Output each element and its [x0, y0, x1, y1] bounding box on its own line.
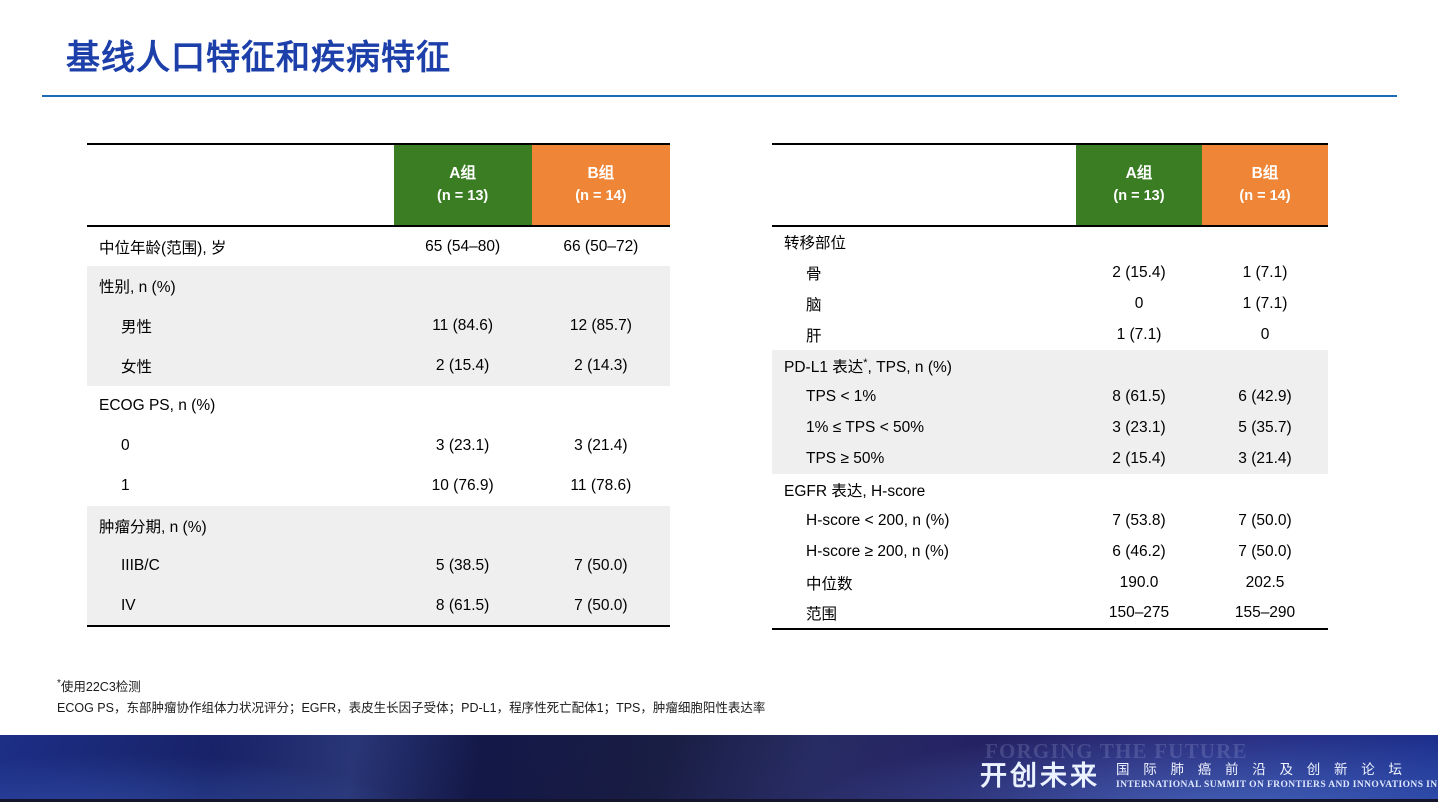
table-row: 女性2 (15.4)2 (14.3) [87, 346, 670, 386]
value-group-b: 3 (21.4) [1202, 443, 1328, 474]
header-blank-cell [772, 144, 1076, 226]
value-group-b: 7 (50.0) [532, 546, 670, 586]
value-group-b: 1 (7.1) [1202, 288, 1328, 319]
value-group-a: 3 (23.1) [1076, 412, 1202, 443]
table-row: 中位数190.0202.5 [772, 567, 1328, 598]
value-group-b [532, 386, 670, 426]
value-group-b: 5 (35.7) [1202, 412, 1328, 443]
header-group-a: A组 (n = 13) [1076, 144, 1202, 226]
row-label: 男性 [87, 306, 394, 346]
row-label: 0 [87, 426, 394, 466]
table-row: 110 (76.9)11 (78.6) [87, 466, 670, 506]
value-group-b: 3 (21.4) [532, 426, 670, 466]
table-header-row: A组 (n = 13) B组 (n = 14) [87, 144, 670, 226]
table-row: 1% ≤ TPS < 50%3 (23.1)5 (35.7) [772, 412, 1328, 443]
baseline-characteristics-table-right: A组 (n = 13) B组 (n = 14) 转移部位骨2 (15.4)1 (… [772, 143, 1328, 630]
value-group-b: 202.5 [1202, 567, 1328, 598]
value-group-a: 6 (46.2) [1076, 536, 1202, 567]
forum-logo-subtitles: 国 际 肺 癌 前 沿 及 创 新 论 坛 INTERNATIONAL SUMM… [1116, 747, 1438, 790]
table-row: H-score < 200, n (%)7 (53.8)7 (50.0) [772, 505, 1328, 536]
header-group-b-count: (n = 14) [532, 186, 670, 207]
table-row: 03 (23.1)3 (21.4) [87, 426, 670, 466]
header-group-b: B组 (n = 14) [1202, 144, 1328, 226]
table-row: 范围150–275155–290 [772, 598, 1328, 629]
footnotes: *使用22C3检测 ECOG PS，东部肿瘤协作组体力状况评分；EGFR，表皮生… [57, 676, 765, 718]
header-group-a-count: (n = 13) [1076, 186, 1202, 207]
value-group-b: 7 (50.0) [1202, 505, 1328, 536]
row-label: TPS < 1% [772, 381, 1076, 412]
header-group-b-count: (n = 14) [1202, 186, 1328, 207]
table-row: ECOG PS, n (%) [87, 386, 670, 426]
row-label: IIIB/C [87, 546, 394, 586]
value-group-b: 6 (42.9) [1202, 381, 1328, 412]
row-label: 转移部位 [772, 226, 1076, 257]
value-group-a: 150–275 [1076, 598, 1202, 629]
value-group-a: 8 (61.5) [394, 586, 532, 626]
header-group-a-label: A组 [449, 165, 476, 182]
table-row: PD-L1 表达*, TPS, n (%) [772, 350, 1328, 381]
header-group-a-label: A组 [1126, 165, 1153, 182]
value-group-a: 190.0 [1076, 567, 1202, 598]
table-row: H-score ≥ 200, n (%)6 (46.2)7 (50.0) [772, 536, 1328, 567]
value-group-b: 11 (78.6) [532, 466, 670, 506]
footnote-source: *使用22C3检测 [57, 676, 765, 698]
table-header-row: A组 (n = 13) B组 (n = 14) [772, 144, 1328, 226]
row-label: 肝 [772, 319, 1076, 350]
table-row: 肿瘤分期, n (%) [87, 506, 670, 546]
value-group-a: 8 (61.5) [1076, 381, 1202, 412]
value-group-a: 11 (84.6) [394, 306, 532, 346]
row-label: 范围 [772, 598, 1076, 629]
value-group-a: 2 (15.4) [394, 346, 532, 386]
row-label: 女性 [87, 346, 394, 386]
value-group-b [532, 506, 670, 546]
row-label: 脑 [772, 288, 1076, 319]
value-group-b: 12 (85.7) [532, 306, 670, 346]
value-group-b: 66 (50–72) [532, 226, 670, 266]
row-label: TPS ≥ 50% [772, 443, 1076, 474]
stat-table-right: A组 (n = 13) B组 (n = 14) 转移部位骨2 (15.4)1 (… [772, 143, 1328, 630]
value-group-a [1076, 226, 1202, 257]
row-label: 肿瘤分期, n (%) [87, 506, 394, 546]
value-group-b: 0 [1202, 319, 1328, 350]
row-label: H-score ≥ 200, n (%) [772, 536, 1076, 567]
value-group-b [1202, 350, 1328, 381]
forum-subtitle-chinese: 国 际 肺 癌 前 沿 及 创 新 论 坛 [1116, 758, 1438, 778]
value-group-a: 1 (7.1) [1076, 319, 1202, 350]
header-group-a: A组 (n = 13) [394, 144, 532, 226]
baseline-characteristics-table-left: A组 (n = 13) B组 (n = 14) 中位年龄(范围), 岁65 (5… [87, 143, 670, 627]
header-group-b-label: B组 [1252, 165, 1279, 182]
value-group-a [394, 266, 532, 306]
value-group-a [1076, 350, 1202, 381]
footnote-abbreviations: ECOG PS，东部肿瘤协作组体力状况评分；EGFR，表皮生长因子受体；PD-L… [57, 698, 765, 719]
value-group-a: 0 [1076, 288, 1202, 319]
value-group-b: 2 (14.3) [532, 346, 670, 386]
table-row: 男性11 (84.6)12 (85.7) [87, 306, 670, 346]
table-row: 肝1 (7.1)0 [772, 319, 1328, 350]
table-row: IIIB/C5 (38.5)7 (50.0) [87, 546, 670, 586]
forum-logo: 开创未来 国 际 肺 癌 前 沿 及 创 新 论 坛 INTERNATIONAL… [980, 735, 1438, 802]
page-title: 基线人口特征和疾病特征 [66, 30, 451, 79]
value-group-a: 2 (15.4) [1076, 443, 1202, 474]
value-group-b [1202, 226, 1328, 257]
row-label: PD-L1 表达*, TPS, n (%) [772, 350, 1076, 381]
row-label: 中位数 [772, 567, 1076, 598]
value-group-b [1202, 474, 1328, 505]
title-divider [42, 95, 1397, 97]
table-row: 转移部位 [772, 226, 1328, 257]
row-label: 1 [87, 466, 394, 506]
header-blank-cell [87, 144, 394, 226]
row-label: 骨 [772, 257, 1076, 288]
value-group-b: 1 (7.1) [1202, 257, 1328, 288]
value-group-a: 10 (76.9) [394, 466, 532, 506]
table-row: EGFR 表达, H-score [772, 474, 1328, 505]
row-label: IV [87, 586, 394, 626]
header-group-a-count: (n = 13) [394, 186, 532, 207]
row-label: H-score < 200, n (%) [772, 505, 1076, 536]
row-label: ECOG PS, n (%) [87, 386, 394, 426]
table-row: 脑01 (7.1) [772, 288, 1328, 319]
value-group-a [394, 386, 532, 426]
stat-table-right-body: 转移部位骨2 (15.4)1 (7.1)脑01 (7.1)肝1 (7.1)0PD… [772, 226, 1328, 629]
row-label: 性别, n (%) [87, 266, 394, 306]
value-group-a [394, 506, 532, 546]
value-group-b [532, 266, 670, 306]
value-group-b: 7 (50.0) [532, 586, 670, 626]
table-row: 性别, n (%) [87, 266, 670, 306]
value-group-a: 7 (53.8) [1076, 505, 1202, 536]
table-row: 骨2 (15.4)1 (7.1) [772, 257, 1328, 288]
table-row: 中位年龄(范围), 岁65 (54–80)66 (50–72) [87, 226, 670, 266]
row-label: 1% ≤ TPS < 50% [772, 412, 1076, 443]
value-group-a [1076, 474, 1202, 505]
table-row: IV8 (61.5)7 (50.0) [87, 586, 670, 626]
value-group-b: 7 (50.0) [1202, 536, 1328, 567]
value-group-a: 65 (54–80) [394, 226, 532, 266]
value-group-a: 2 (15.4) [1076, 257, 1202, 288]
forum-logo-chinese-title: 开创未来 [980, 745, 1100, 793]
row-label: EGFR 表达, H-score [772, 474, 1076, 505]
header-group-b: B组 (n = 14) [532, 144, 670, 226]
stat-table-left-body: 中位年龄(范围), 岁65 (54–80)66 (50–72)性别, n (%)… [87, 226, 670, 626]
value-group-a: 3 (23.1) [394, 426, 532, 466]
forum-subtitle-english: INTERNATIONAL SUMMIT ON FRONTIERS AND IN… [1116, 780, 1438, 790]
value-group-b: 155–290 [1202, 598, 1328, 629]
footnote-source-text: 使用22C3检测 [61, 680, 141, 694]
stat-table-left: A组 (n = 13) B组 (n = 14) 中位年龄(范围), 岁65 (5… [87, 143, 670, 627]
header-group-b-label: B组 [588, 165, 615, 182]
value-group-a: 5 (38.5) [394, 546, 532, 586]
footer-banner: FORGING THE FUTURE 开创未来 国 际 肺 癌 前 沿 及 创 … [0, 735, 1438, 802]
table-row: TPS < 1%8 (61.5)6 (42.9) [772, 381, 1328, 412]
row-label: 中位年龄(范围), 岁 [87, 226, 394, 266]
table-row: TPS ≥ 50%2 (15.4)3 (21.4) [772, 443, 1328, 474]
